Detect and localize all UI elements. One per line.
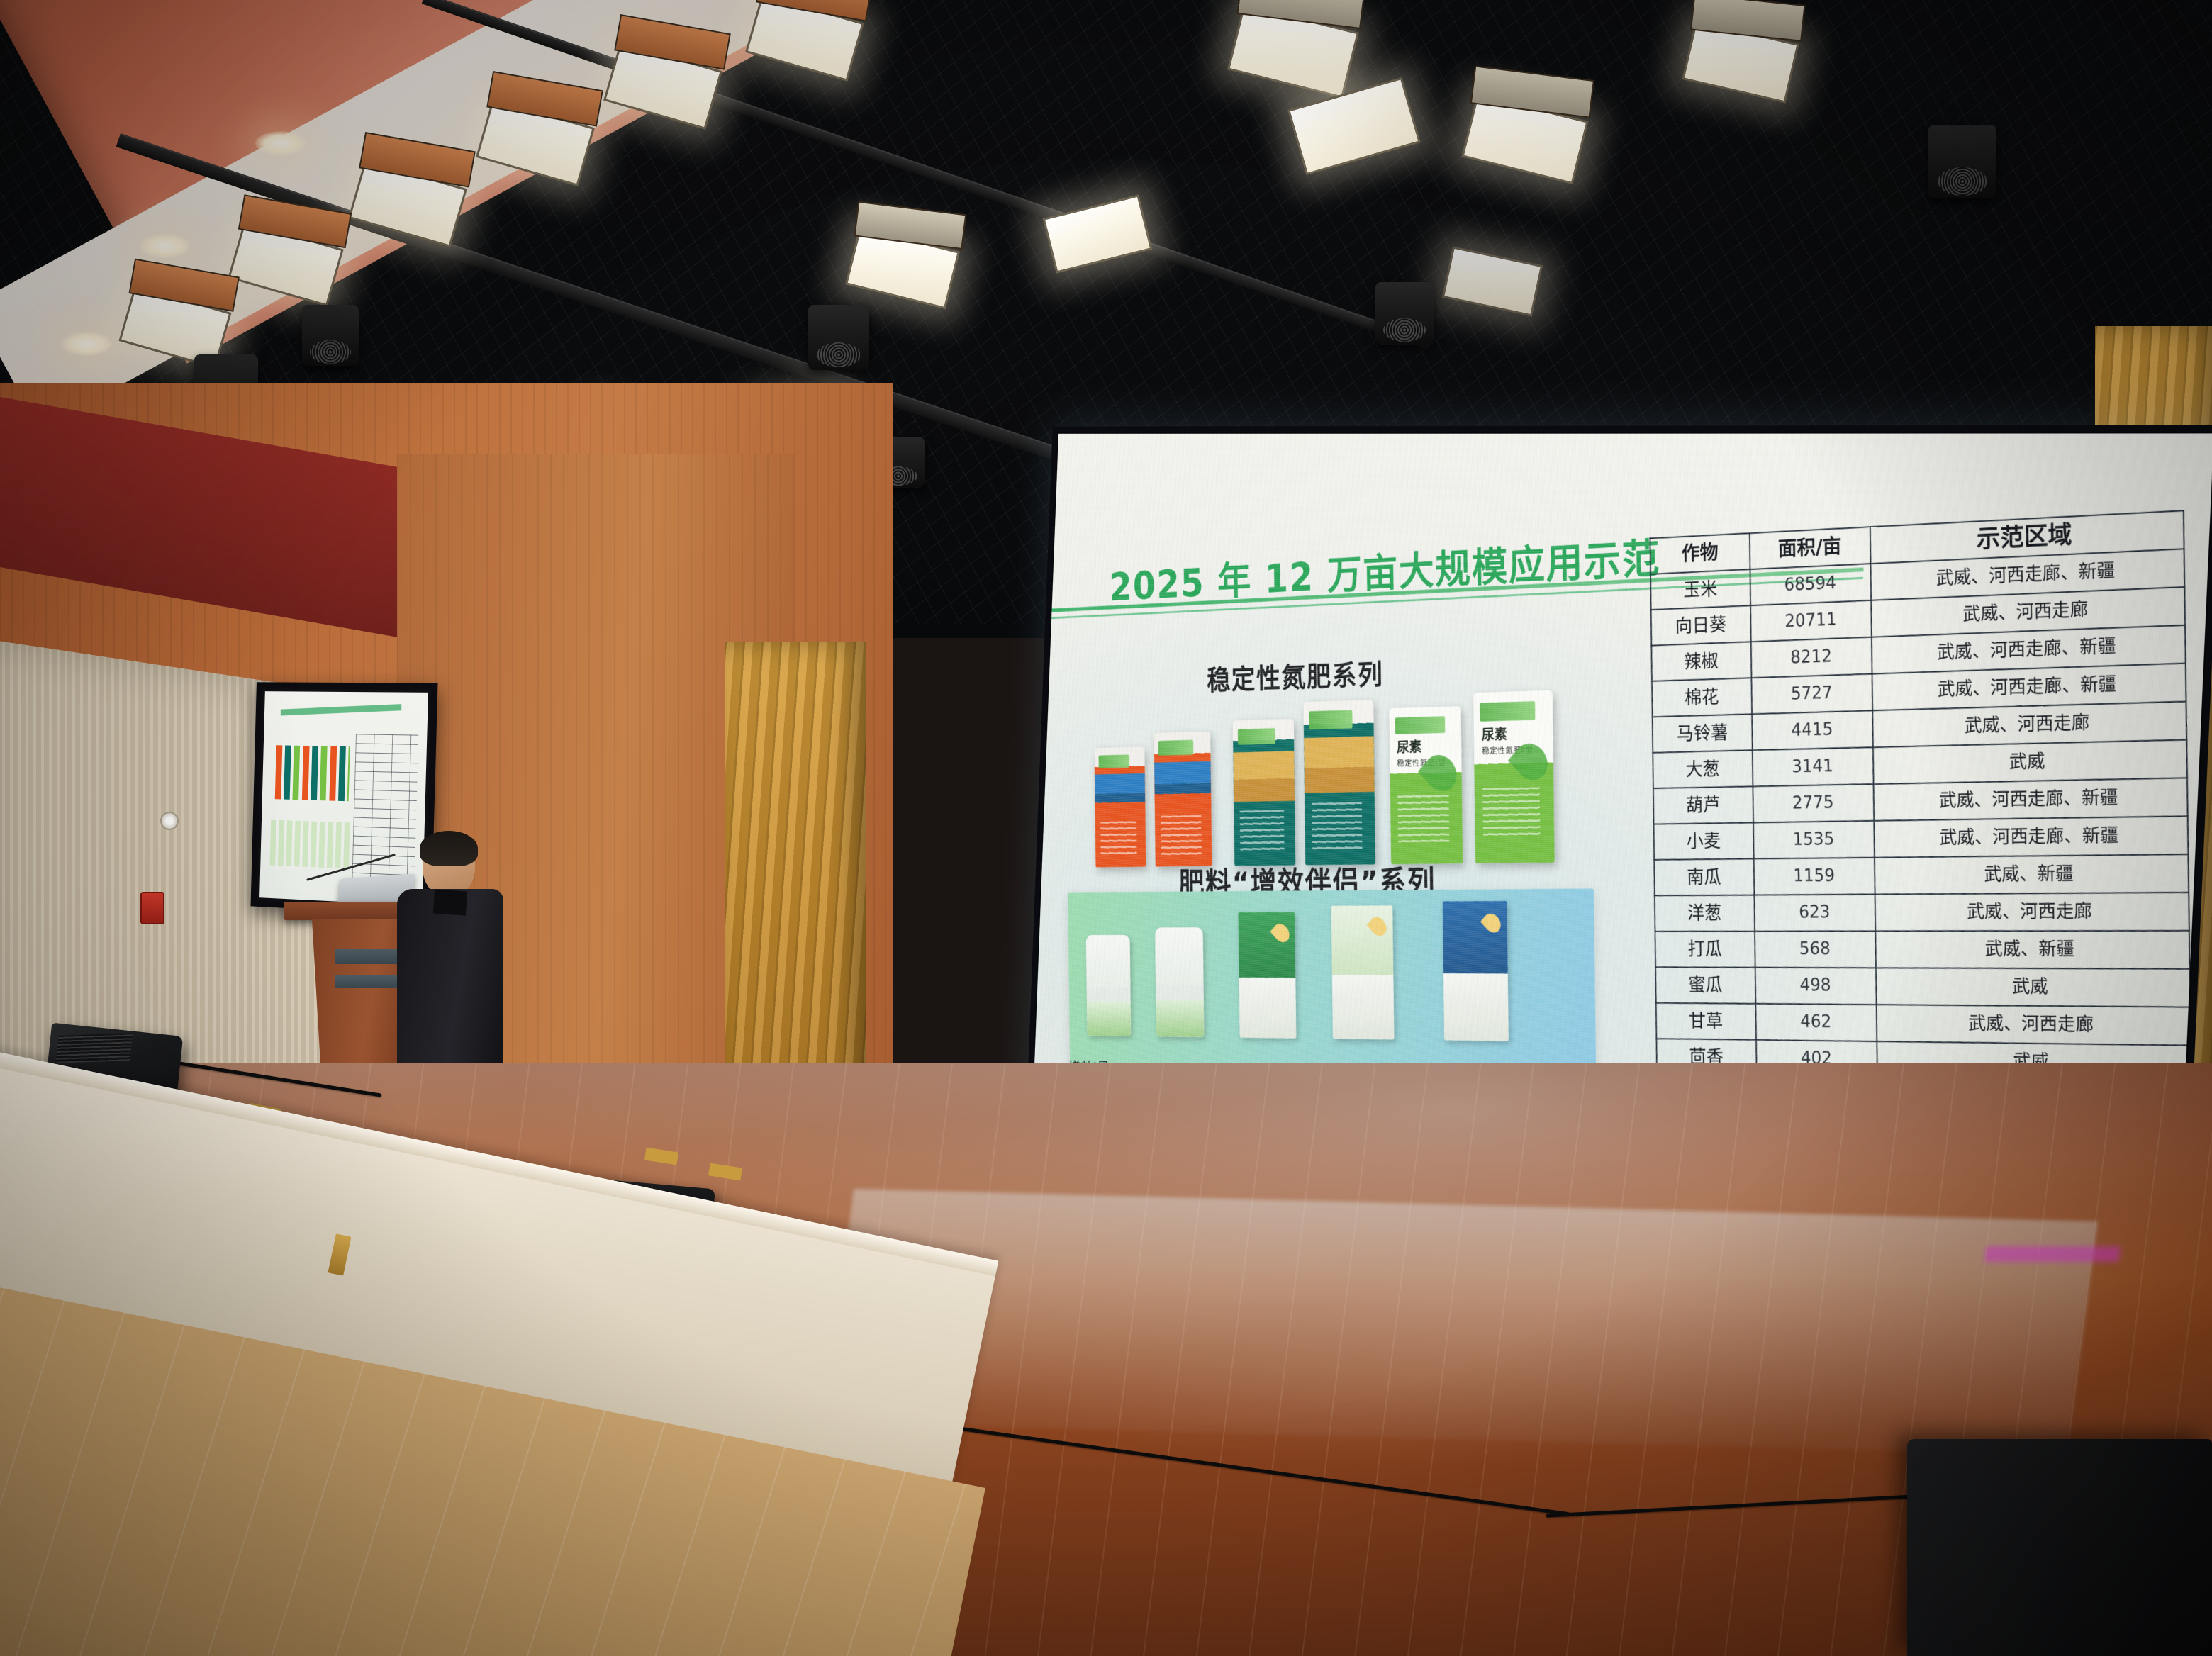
cell-region: 武威、新疆 [1875,931,2189,969]
auditorium-photo: 甘肃省绿色高效肥料研发及技术创新 [0,0,2212,1656]
fertilizer-bag-3 [1233,719,1295,866]
fire-alarm-pull-station [140,892,164,924]
downlight-2 [139,234,190,258]
col-header-crop: 作物 [1650,533,1750,574]
moving-head-light-5 [1928,125,1996,198]
moving-head-light-4 [1375,282,1434,345]
fertilizer-bag-4 [1303,700,1375,865]
table-row: 蜜瓜498武威 [1655,967,2190,1007]
moving-head-light-2 [302,305,359,366]
fertilizer-bag-2 [1154,732,1212,867]
cell-area: 462 [1756,1004,1877,1041]
cell-crop: 葫芦 [1653,786,1753,824]
cell-area: 2775 [1753,784,1874,822]
slide-title: 2025 年 12 万亩大规模应用示范 [1109,525,1661,612]
product-3 [1238,912,1296,1039]
cell-area: 4415 [1752,710,1872,750]
fertilizer-bag-1 [1095,746,1146,867]
table-row: 洋葱623武威、河西走廊 [1655,893,2189,931]
cell-region: 武威、河西走廊 [1875,893,2189,931]
cell-area: 68594 [1750,564,1871,605]
cell-region: 武威、河西走廊、新疆 [1873,778,2187,821]
cell-area: 623 [1755,895,1876,931]
cell-region: 武威、新疆 [1875,854,2189,894]
magenta-artifact-reflection [1984,1246,2121,1262]
cell-crop: 玉米 [1650,569,1750,610]
cell-area: 8212 [1751,637,1872,678]
cell-region: 武威、河西走廊、新疆 [1874,816,2188,858]
cell-crop: 洋葱 [1655,895,1755,931]
downlight-1 [255,131,306,155]
screen-reflection-on-floor [823,1189,2098,1455]
main-pa-speaker-right [1907,1439,2212,1656]
wall-sensor-dot [160,812,179,830]
cell-area: 5727 [1752,674,1872,715]
fertilizer-bag-5: 尿素稳定性氮肥Ⅰ型 [1389,706,1463,864]
cell-area: 20711 [1750,600,1871,642]
cell-crop: 甘草 [1656,1003,1757,1040]
cell-area: 1159 [1754,858,1875,895]
cell-region: 武威 [1876,968,2191,1007]
cell-area: 3141 [1753,747,1873,786]
cell-area: 568 [1755,931,1876,968]
cell-crop: 向日葵 [1651,605,1751,645]
cell-area: 498 [1755,968,1877,1005]
cell-region: 武威 [1873,739,2187,784]
cell-crop: 马铃薯 [1653,714,1753,752]
product-1 [1086,935,1131,1036]
table-row: 小麦1535武威、河西走廊、新疆 [1654,816,2189,860]
downlight-3 [61,332,112,356]
synergist-product-strip [1068,889,1596,1080]
fertilizer-bag-6: 尿素稳定性氮肥Ⅱ型 [1473,690,1555,863]
table-row: 南瓜1159武威、新疆 [1654,854,2189,895]
cell-region: 武威、河西走廊 [1876,1005,2191,1045]
product-4 [1331,905,1395,1040]
cell-crop: 蜜瓜 [1655,967,1755,1004]
cell-crop: 南瓜 [1654,858,1754,895]
moving-head-light-3 [808,305,869,370]
cell-area: 1535 [1753,821,1874,859]
cell-crop: 小麦 [1654,822,1754,860]
cell-crop: 棉花 [1652,678,1752,717]
product-5 [1443,901,1509,1041]
cell-crop: 辣椒 [1651,642,1751,681]
fertilizer-bag-row: 尿素稳定性氮肥Ⅰ型 尿素稳定性氮肥Ⅱ型 [1088,679,1572,868]
cell-crop: 大葱 [1653,750,1753,788]
col-header-area: 面积/亩 [1750,527,1870,569]
table-row: 打瓜568武威、新疆 [1655,931,2189,969]
product-2 [1155,927,1204,1037]
cell-crop: 打瓜 [1655,931,1755,968]
